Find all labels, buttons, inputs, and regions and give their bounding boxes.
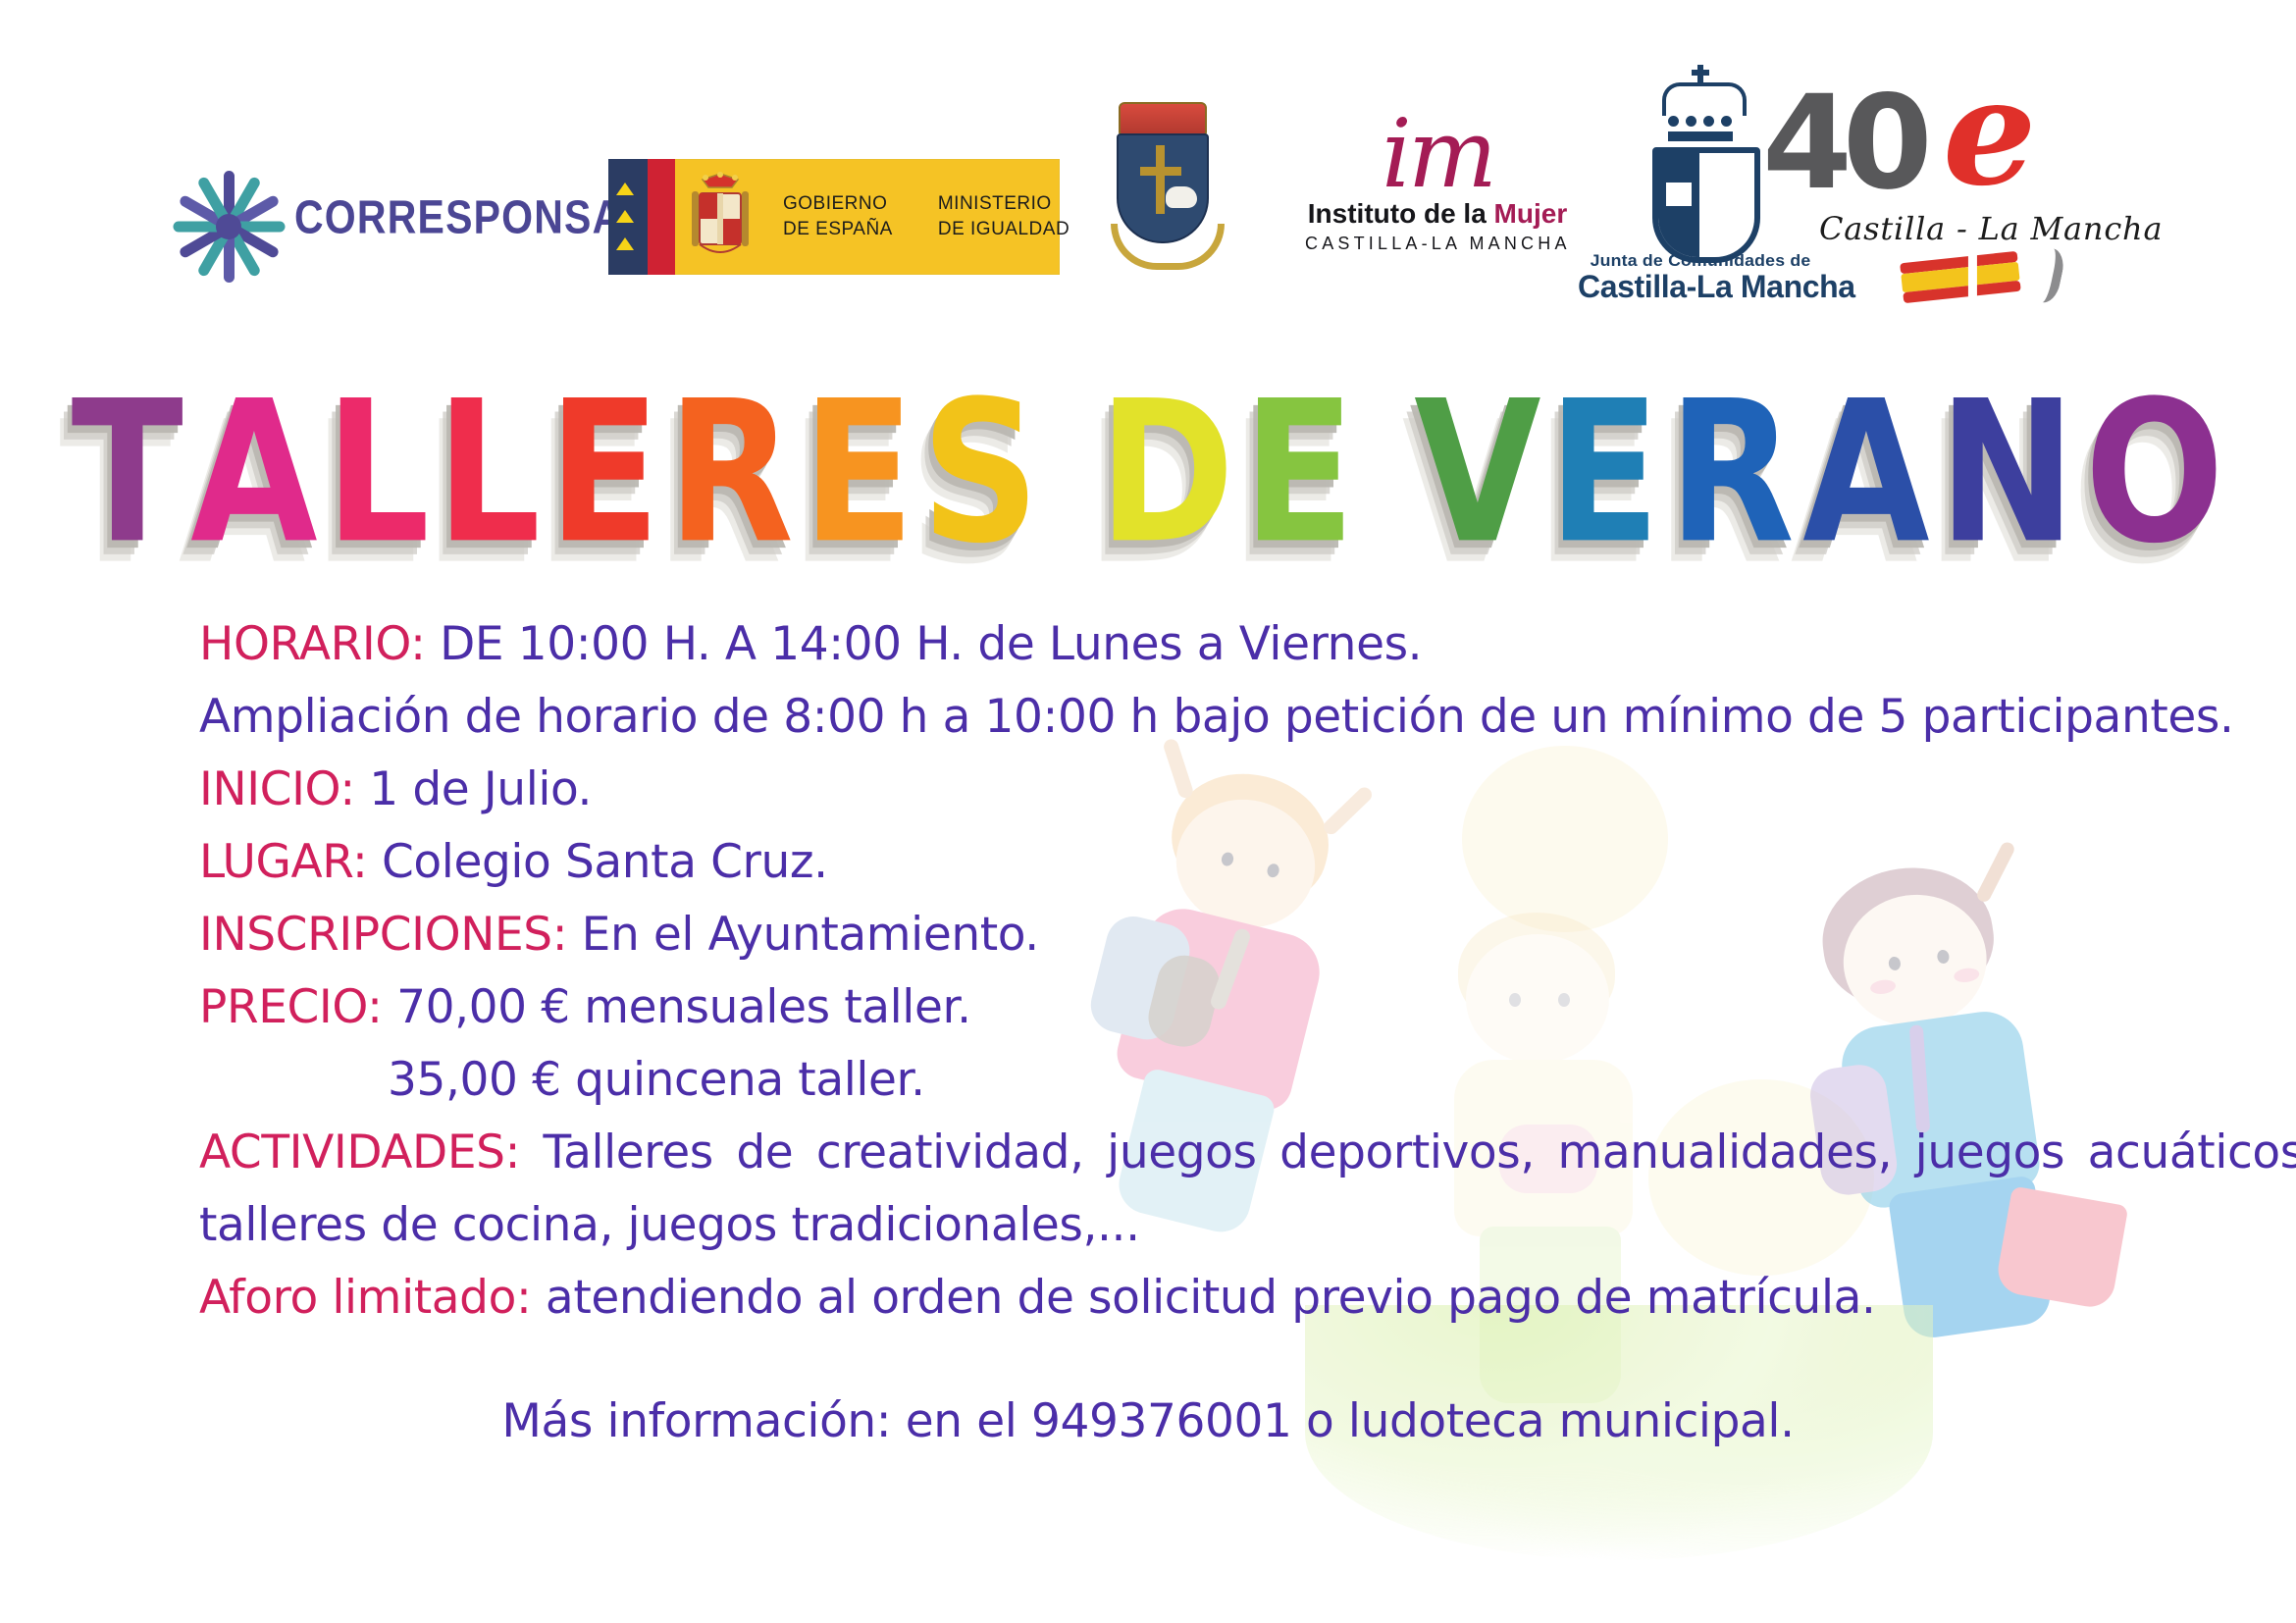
value-precio: 70,00 € mensuales taller.: [383, 980, 971, 1034]
text-line-actividades: ACTIVIDADES: Talleres de creatividad, ju…: [0, 1117, 2296, 1189]
title-letter-17: O: [2084, 376, 2223, 571]
label-actividades: ACTIVIDADES:: [199, 1126, 520, 1179]
title-letter-6: E: [802, 376, 913, 571]
value-actividades: Talleres de creatividad, juegos deportiv…: [520, 1126, 2296, 1179]
title-letter-2: L: [325, 376, 430, 571]
label-horario: HORARIO:: [199, 617, 426, 671]
value-inscripciones: En el Ayuntamiento.: [567, 908, 1039, 962]
text-line-precio-quincena: 35,00 € quincena taller.: [0, 1044, 2296, 1117]
title-letter-7: S: [921, 376, 1040, 571]
mujer-text: Mujer: [1494, 198, 1568, 229]
title-letter-13: E: [1548, 376, 1660, 571]
corresponsables-icon: [165, 163, 292, 290]
value-inicio: 1 de Julio.: [355, 762, 592, 816]
text-line-mas-informacion: Más información: en el 949376001 o ludot…: [0, 1386, 2296, 1458]
gobierno-de-espana-logo: GOBIERNO DE ESPAÑA MINISTERIO DE IGUALDA…: [608, 159, 1060, 275]
text-line-aforo: Aforo limitado: atendiendo al orden de s…: [0, 1262, 2296, 1335]
crown-icon: [1119, 102, 1207, 135]
value-aforo: atendiendo al orden de solicitud previo …: [531, 1271, 1875, 1325]
text-line-inicio: INICIO: 1 de Julio.: [0, 754, 2296, 826]
red-bar: [648, 159, 675, 275]
poster-body: HORARIO: DE 10:00 H. A 14:00 H. de Lunes…: [0, 608, 2296, 1458]
value-lugar: Colegio Santa Cruz.: [367, 835, 827, 889]
text-line-precio: PRECIO: 70,00 € mensuales taller.: [0, 971, 2296, 1044]
text-line-actividades-cont: talleres de cocina, juegos tradicionales…: [0, 1189, 2296, 1262]
title-letter-15: A: [1802, 376, 1929, 571]
text-line-horario: HORARIO: DE 10:00 H. A 14:00 H. de Lunes…: [0, 608, 2296, 681]
label-inicio: INICIO:: [199, 762, 355, 816]
lamb-icon: [1166, 186, 1197, 208]
value-horario: DE 10:00 H. A 14:00 H. de Lunes a Vierne…: [426, 617, 1423, 671]
value-actividades-cont: talleres de cocina, juegos tradicionales…: [199, 1198, 1140, 1252]
poster-canvas: CORRESPONSABLES: [0, 0, 2296, 1623]
e-letter-icon: e: [1943, 59, 2036, 206]
cross-icon: [1140, 167, 1181, 176]
crown-icon: [1662, 82, 1747, 116]
gobierno-line-2: DE ESPAÑA: [783, 219, 893, 239]
title-letter-16: N: [1938, 376, 2075, 571]
forty-numeral: 40: [1762, 79, 1923, 208]
title-letter-9: D: [1099, 376, 1235, 571]
text-line-inscripciones: INSCRIPCIONES: En el Ayuntamiento.: [0, 899, 2296, 971]
label-precio: PRECIO:: [199, 980, 383, 1034]
40-aniversario-logo: 40 e Castilla - La Mancha: [1756, 65, 2080, 290]
spain-coat-of-arms-icon: [675, 159, 765, 275]
cross-icon: [1156, 145, 1165, 214]
ribbon-shape: [1111, 224, 1225, 270]
municipal-coat-of-arms: [1097, 84, 1225, 281]
castle-icon: [1666, 183, 1692, 206]
label-inscripciones: INSCRIPCIONES:: [199, 908, 567, 962]
text-line-lugar: LUGAR: Colegio Santa Cruz.: [0, 826, 2296, 899]
ministerio-line-1: MINISTERIO: [938, 193, 1052, 214]
title-letter-4: E: [548, 376, 660, 571]
label-lugar: LUGAR:: [199, 835, 367, 889]
value-mas-informacion: Más información: en el 949376001 o ludot…: [501, 1394, 1794, 1448]
value-ampliacion-horario: Ampliación de horario de 8:00 h a 10:00 …: [199, 690, 2234, 744]
title-letter-14: R: [1668, 376, 1795, 571]
text-line-ampliacion-horario: Ampliación de horario de 8:00 h a 10:00 …: [0, 681, 2296, 754]
title-letter-12: V: [1414, 376, 1540, 571]
title-letter-3: L: [437, 376, 542, 571]
shield-shape: [1652, 147, 1760, 263]
gobierno-line-1: GOBIERNO: [783, 193, 887, 214]
im-monogram-icon: im: [1305, 110, 1570, 198]
instituto-de-la-mujer-logo: im Instituto de la Mujer CASTILLA-LA MAN…: [1305, 110, 1570, 296]
value-precio-quincena: 35,00 € quincena taller.: [388, 1053, 925, 1107]
title-letter-1: A: [190, 376, 317, 571]
title-letter-10: E: [1243, 376, 1355, 571]
eu-stars-strip: [608, 159, 648, 275]
page-title: TALLERESDEVERANO: [0, 386, 2296, 582]
forty-subtitle: Castilla - La Mancha: [1819, 210, 2163, 247]
instituto-region-text: CASTILLA-LA MANCHA: [1305, 234, 1570, 254]
logo-strip: CORRESPONSABLES: [0, 0, 2296, 324]
swoosh-icon: [2022, 244, 2067, 305]
label-aforo: Aforo limitado:: [199, 1271, 531, 1325]
ministerio-line-2: DE IGUALDAD: [938, 219, 1070, 239]
spain-flag-icon: [1900, 251, 2021, 304]
instituto-text: Instituto de la: [1308, 198, 1494, 229]
title-letter-0: T: [71, 376, 183, 571]
title-letter-5: R: [668, 376, 795, 571]
